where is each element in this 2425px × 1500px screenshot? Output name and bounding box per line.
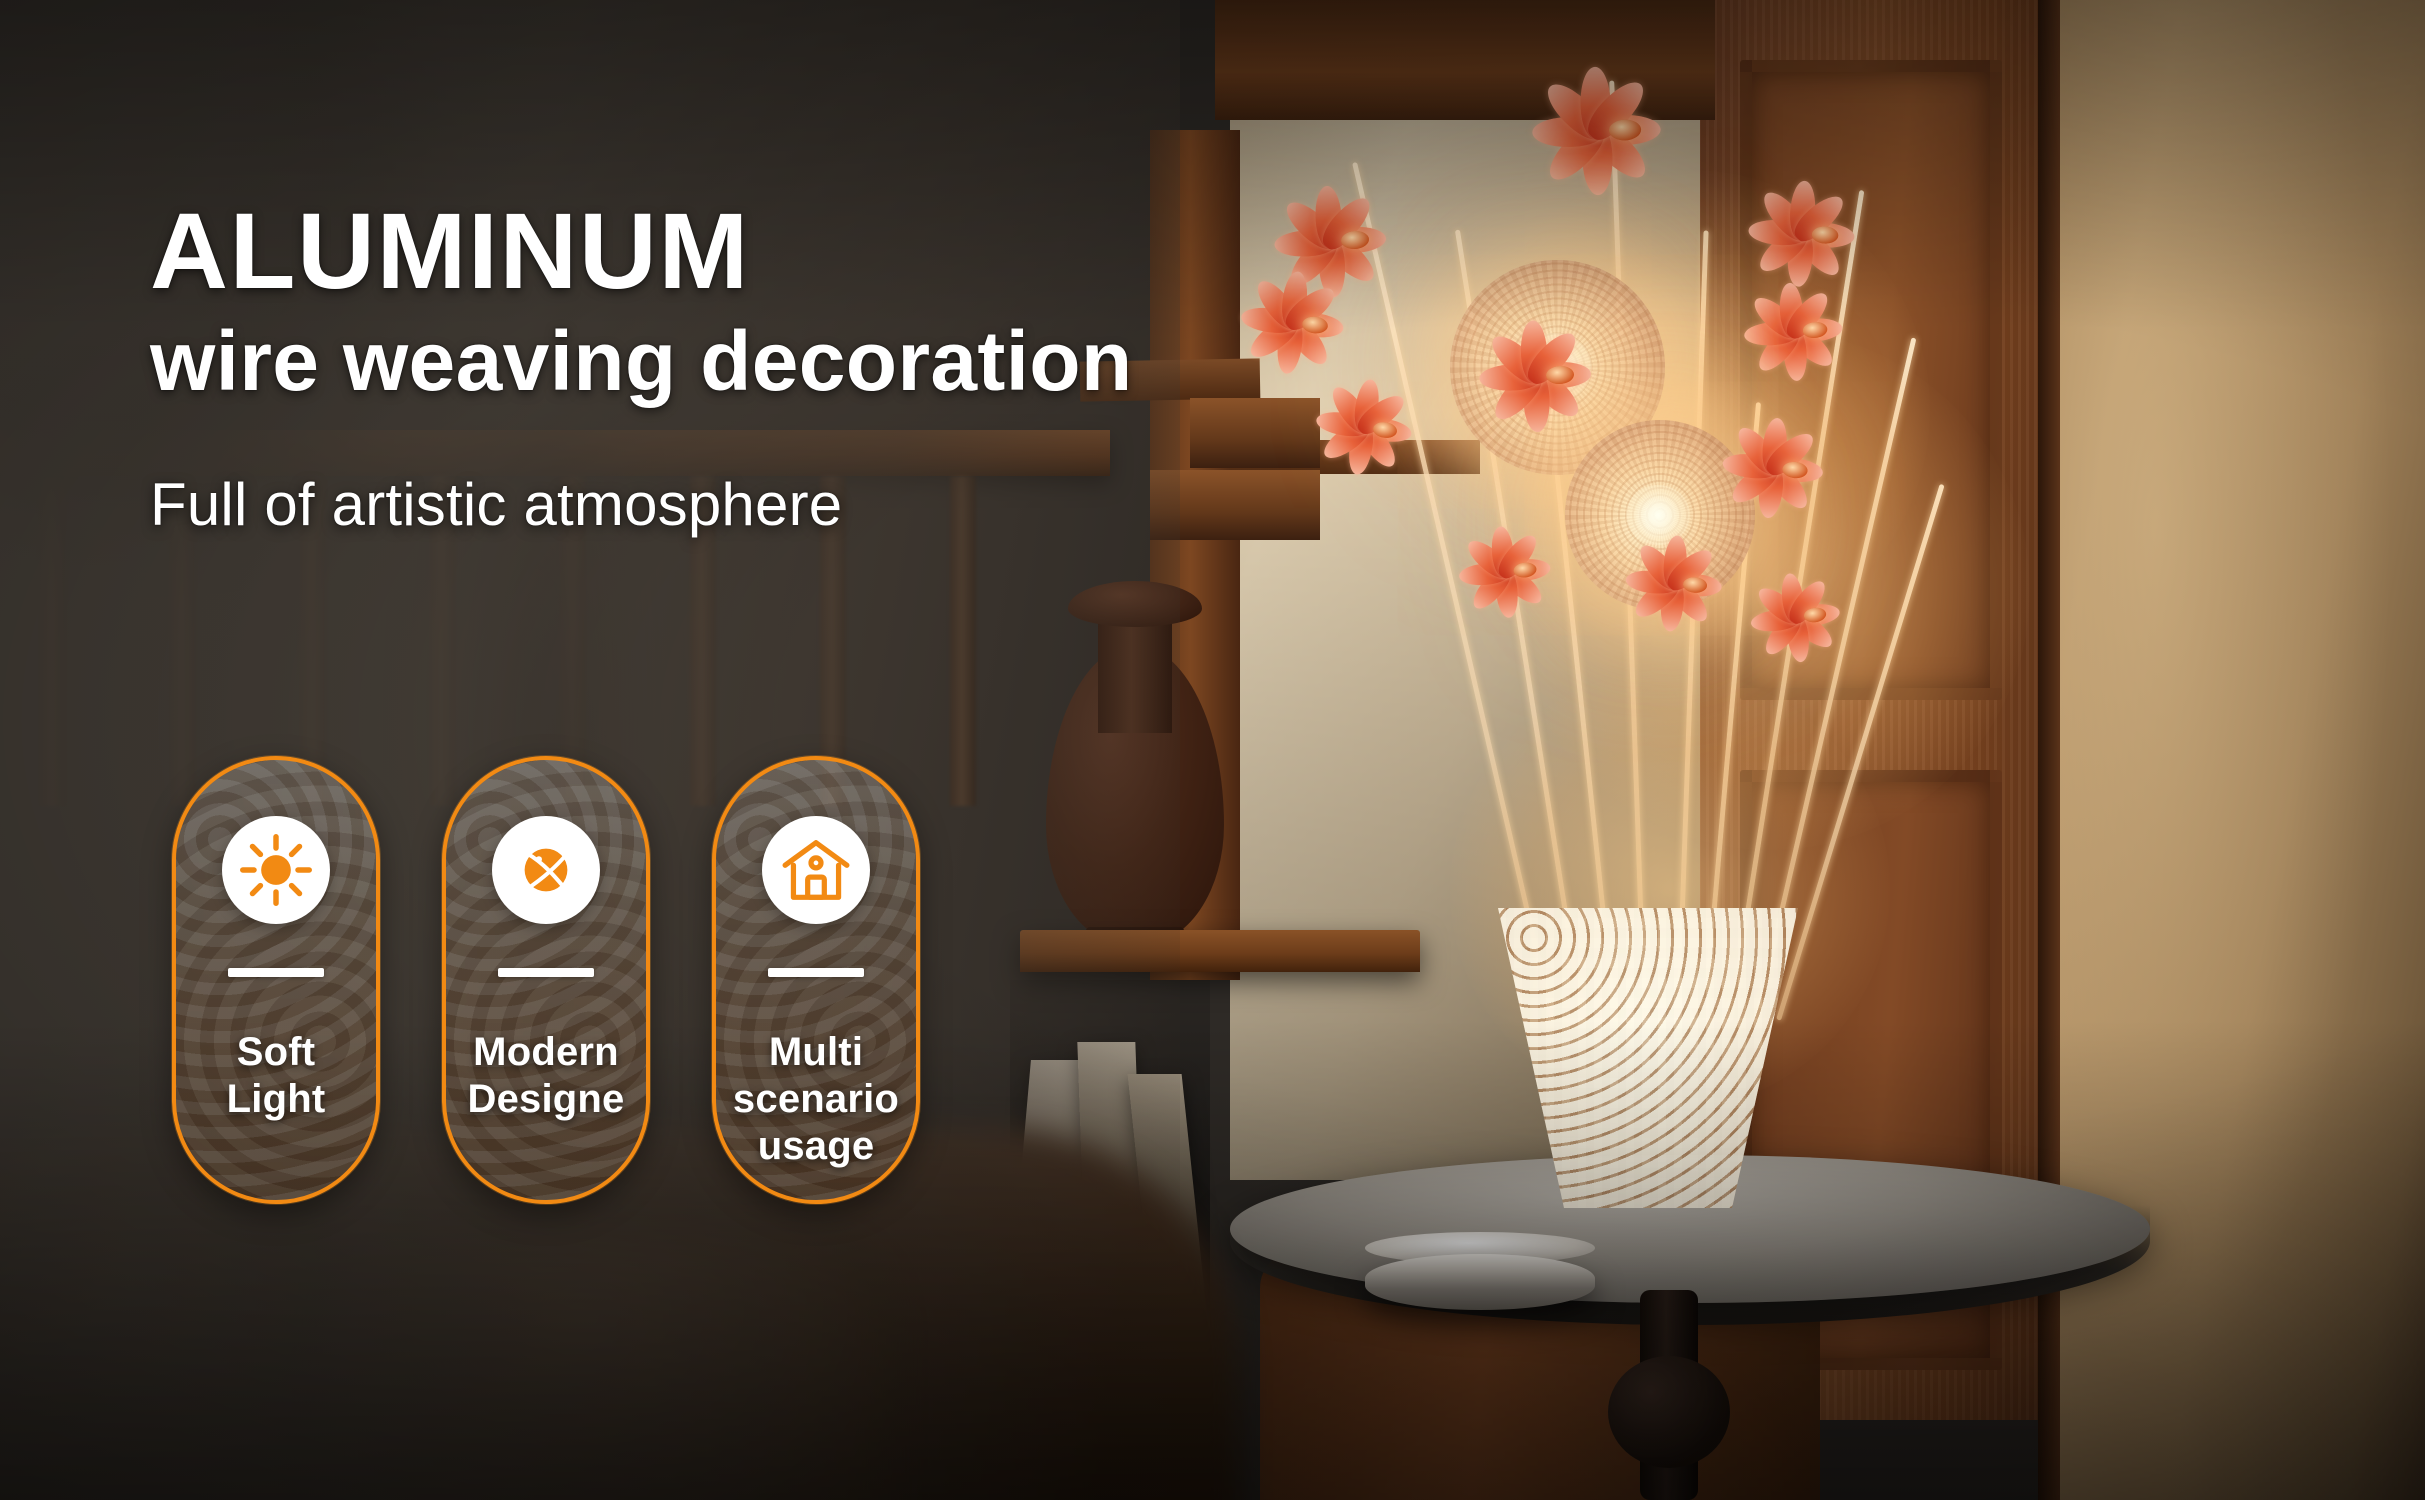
aluminum-flower bbox=[1760, 584, 1870, 646]
badge-divider bbox=[228, 968, 324, 977]
product-table-lamp bbox=[1330, 110, 1970, 1270]
aluminum-flower bbox=[1762, 203, 1888, 266]
sun-icon bbox=[222, 816, 330, 924]
feature-badge-modern-designe[interactable]: Modern Designe bbox=[442, 756, 650, 1204]
aluminum-flower bbox=[1253, 291, 1378, 358]
headline-block: ALUMINUM wire weaving decoration Full of… bbox=[150, 196, 1133, 539]
house-icon bbox=[762, 816, 870, 924]
product-banner: ALUMINUM wire weaving decoration Full of… bbox=[0, 0, 2425, 1500]
aluminum-flower bbox=[1734, 438, 1855, 502]
page-title: ALUMINUM bbox=[150, 196, 1133, 306]
aluminum-flower bbox=[1756, 299, 1875, 362]
chrome-base bbox=[1365, 1254, 1595, 1310]
design-sphere-icon bbox=[492, 816, 600, 924]
aluminum-flower bbox=[1288, 206, 1422, 275]
tagline: Full of artistic atmosphere bbox=[150, 470, 1133, 539]
crystal-bead-vase bbox=[1498, 908, 1798, 1208]
badge-divider bbox=[498, 968, 594, 977]
badge-divider bbox=[768, 968, 864, 977]
stair-step bbox=[1190, 398, 1320, 468]
feature-badge-soft-light[interactable]: Soft Light bbox=[172, 756, 380, 1204]
aluminum-flower bbox=[1549, 93, 1701, 167]
wire-stem bbox=[1676, 230, 1709, 1020]
feature-badge-multi-scenario[interactable]: Multi scenario usage bbox=[712, 756, 920, 1204]
side-table-knob bbox=[1608, 1356, 1730, 1468]
aluminum-flower bbox=[1494, 342, 1627, 409]
feature-badge-list: Soft Light Modern Designe bbox=[172, 756, 920, 1204]
page-subtitle-bold: wire weaving decoration bbox=[150, 314, 1133, 408]
feature-label: Modern Designe bbox=[459, 1029, 632, 1123]
feature-label: Soft Light bbox=[219, 1029, 334, 1123]
aluminum-flower bbox=[1469, 540, 1580, 600]
feature-label: Multi scenario usage bbox=[725, 1029, 907, 1171]
aluminum-flower bbox=[1637, 555, 1752, 614]
aluminum-flower bbox=[1326, 397, 1444, 464]
